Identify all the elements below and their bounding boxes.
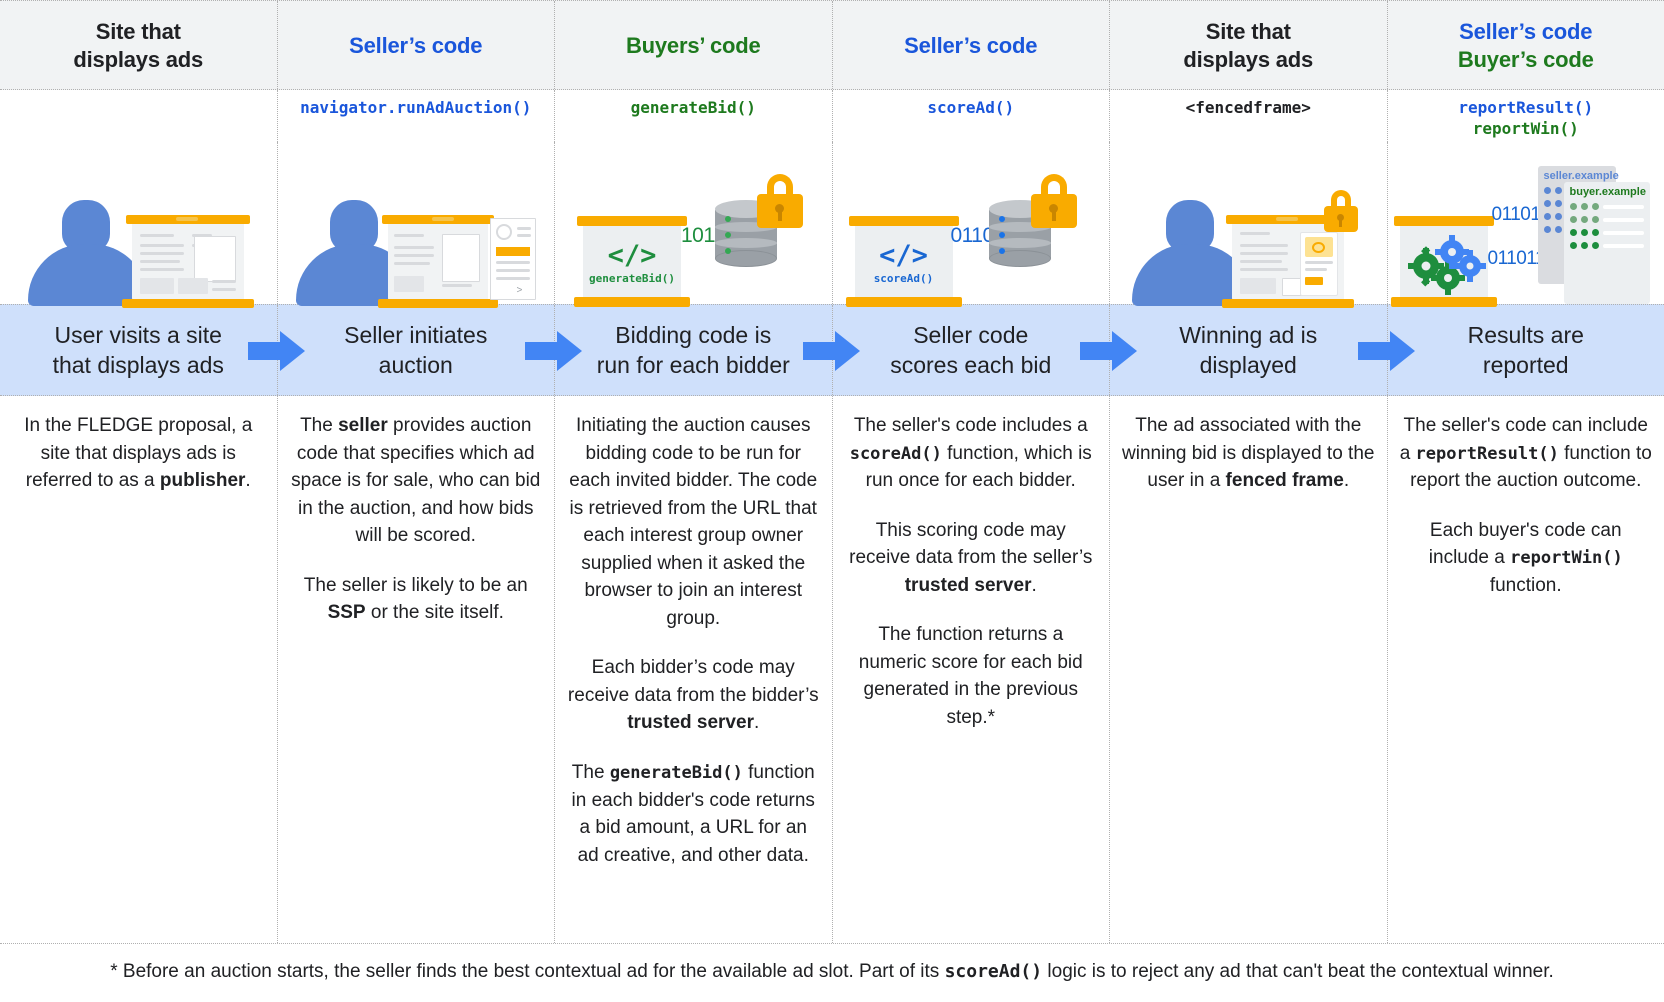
column-5-illustration xyxy=(1110,142,1388,304)
browser-window-icon xyxy=(388,222,488,300)
column-5-description: The ad associated with the winning bid i… xyxy=(1110,396,1388,943)
header-line: displays ads xyxy=(73,46,203,74)
description-text: The seller's code can include a reportRe… xyxy=(1388,396,1664,943)
header-line: Buyers’ code xyxy=(626,32,761,60)
step-cell: Bidding code isrun for each bidder xyxy=(555,305,832,397)
header-cell: Seller’s code xyxy=(278,1,555,91)
description-row: In the FLEDGE proposal, a site that disp… xyxy=(0,396,1664,944)
step-cell: Results arereported xyxy=(1388,305,1664,397)
flow-arrow-icon xyxy=(1358,329,1416,373)
step-label: Bidding code isrun for each bidder xyxy=(597,321,790,381)
code-function-label: scoreAd() xyxy=(855,272,953,285)
header-line: displays ads xyxy=(1183,46,1313,74)
step-cell: Seller initiatesauction xyxy=(278,305,555,397)
flow-arrow-icon xyxy=(803,329,861,373)
browser-window-icon xyxy=(1232,222,1344,300)
column-3-description: Initiating the auction causes bidding co… xyxy=(555,396,833,943)
api-name: <fencedframe> xyxy=(1186,98,1311,119)
padlock-icon xyxy=(1324,190,1358,232)
column-1-illustration xyxy=(0,142,278,304)
column-4-api: scoreAd() xyxy=(833,90,1111,142)
api-label-row: navigator.runAdAuction() generateBid() s… xyxy=(0,90,1664,142)
step-cell: User visits a sitethat displays ads xyxy=(0,305,277,397)
column-2-illustration: > xyxy=(278,142,556,304)
header-line: Seller’s code xyxy=(349,32,482,60)
header-row: Site that displays ads Seller’s code Buy… xyxy=(0,0,1664,90)
header-cell: Site that displays ads xyxy=(1110,1,1387,91)
header-cell: Buyers’ code xyxy=(555,1,832,91)
column-2-description: The seller provides auction code that sp… xyxy=(278,396,556,943)
description-text: The ad associated with the winning bid i… xyxy=(1110,396,1387,943)
header-cell: Site that displays ads xyxy=(0,1,277,91)
description-text: Initiating the auction causes bidding co… xyxy=(555,396,832,943)
footnote: * Before an auction starts, the seller f… xyxy=(0,944,1664,1000)
illustration-row: > </> generateBid() 1011110 xyxy=(0,142,1664,304)
padlock-icon xyxy=(757,174,803,228)
api-name: reportResult() xyxy=(1458,98,1593,119)
description-text: The seller's code includes a scoreAd() f… xyxy=(833,396,1110,943)
step-5: Winning ad isdisplayed xyxy=(1110,305,1388,395)
column-6-header: Seller’s code Buyer’s code xyxy=(1388,1,1664,89)
column-2-header: Seller’s code xyxy=(278,1,556,89)
api-cell: scoreAd() xyxy=(833,90,1110,142)
api-cell: navigator.runAdAuction() xyxy=(278,90,555,142)
api-name: generateBid() xyxy=(631,98,756,119)
code-glyph: </> xyxy=(583,240,681,271)
column-3-illustration: </> generateBid() 1011110 xyxy=(555,142,833,304)
report-card-buyer: buyer.example xyxy=(1564,182,1650,304)
header-line: Seller’s code xyxy=(904,32,1037,60)
step-6: Results arereported xyxy=(1388,305,1664,395)
column-4-description: The seller's code includes a scoreAd() f… xyxy=(833,396,1111,943)
api-name: scoreAd() xyxy=(927,98,1014,119)
api-name: navigator.runAdAuction() xyxy=(300,98,531,119)
api-cell xyxy=(0,90,277,142)
gears-icon xyxy=(1400,224,1488,298)
description-text: In the FLEDGE proposal, a site that disp… xyxy=(0,396,277,943)
step-cell: Seller codescores each bid xyxy=(833,305,1110,397)
api-cell: generateBid() xyxy=(555,90,832,142)
column-3-header: Buyers’ code xyxy=(555,1,833,89)
auction-config-panel-icon: > xyxy=(490,218,536,300)
step-cell: Winning ad isdisplayed xyxy=(1110,305,1387,397)
header-cell: Seller’s code Buyer’s code xyxy=(1388,1,1664,91)
column-1-description: In the FLEDGE proposal, a site that disp… xyxy=(0,396,278,943)
api-name: reportWin() xyxy=(1473,119,1579,140)
code-window-generatebid-icon: </> generateBid() xyxy=(583,224,681,298)
column-2-api: navigator.runAdAuction() xyxy=(278,90,556,142)
description-text: The seller provides auction code that sp… xyxy=(278,396,555,943)
flow-arrow-icon xyxy=(248,329,306,373)
step-label: Winning ad isdisplayed xyxy=(1179,321,1317,381)
step-2: Seller initiatesauction xyxy=(278,305,556,395)
column-1-header: Site that displays ads xyxy=(0,1,278,89)
step-3: Bidding code isrun for each bidder xyxy=(555,305,833,395)
code-window-scoread-icon: </> scoreAd() xyxy=(855,224,953,298)
padlock-icon xyxy=(1031,174,1077,228)
flow-arrow-icon xyxy=(1080,329,1138,373)
code-window-gears-icon xyxy=(1400,224,1488,298)
code-glyph: </> xyxy=(855,240,953,271)
column-3-api: generateBid() xyxy=(555,90,833,142)
process-step-band: User visits a sitethat displays ads Sell… xyxy=(0,304,1664,396)
step-label: User visits a sitethat displays ads xyxy=(53,321,224,381)
step-label: Seller initiatesauction xyxy=(344,321,487,381)
header-cell: Seller’s code xyxy=(833,1,1110,91)
browser-window-icon xyxy=(132,222,244,300)
step-4: Seller codescores each bid xyxy=(833,305,1111,395)
api-cell: <fencedframe> xyxy=(1110,90,1387,142)
api-cell: reportResult() reportWin() xyxy=(1388,90,1664,142)
column-6-api: reportResult() reportWin() xyxy=(1388,90,1664,142)
column-6-illustration: 0110111 01101110 seller.example buyer.ex… xyxy=(1388,142,1664,304)
step-1: User visits a sitethat displays ads xyxy=(0,305,278,395)
step-label: Seller codescores each bid xyxy=(890,321,1051,381)
header-line: Site that xyxy=(96,18,181,46)
column-4-illustration: </> scoreAd() 0110111 xyxy=(833,142,1111,304)
step-label: Results arereported xyxy=(1468,321,1584,381)
header-line: Seller’s code xyxy=(1459,18,1592,46)
fledge-auction-flow-diagram: Site that displays ads Seller’s code Buy… xyxy=(0,0,1664,1000)
column-6-description: The seller's code can include a reportRe… xyxy=(1388,396,1664,943)
flow-arrow-icon xyxy=(525,329,583,373)
fenced-frame-ad-icon xyxy=(1300,232,1338,296)
column-5-api: <fencedframe> xyxy=(1110,90,1388,142)
code-function-label: generateBid() xyxy=(583,272,681,285)
footnote-text: * Before an auction starts, the seller f… xyxy=(110,942,1554,1002)
column-4-header: Seller’s code xyxy=(833,1,1111,89)
column-5-header: Site that displays ads xyxy=(1110,1,1388,89)
column-1-api xyxy=(0,90,278,142)
report-card-title: buyer.example xyxy=(1564,182,1650,200)
header-line: Site that xyxy=(1206,18,1291,46)
header-line: Buyer’s code xyxy=(1458,46,1594,74)
